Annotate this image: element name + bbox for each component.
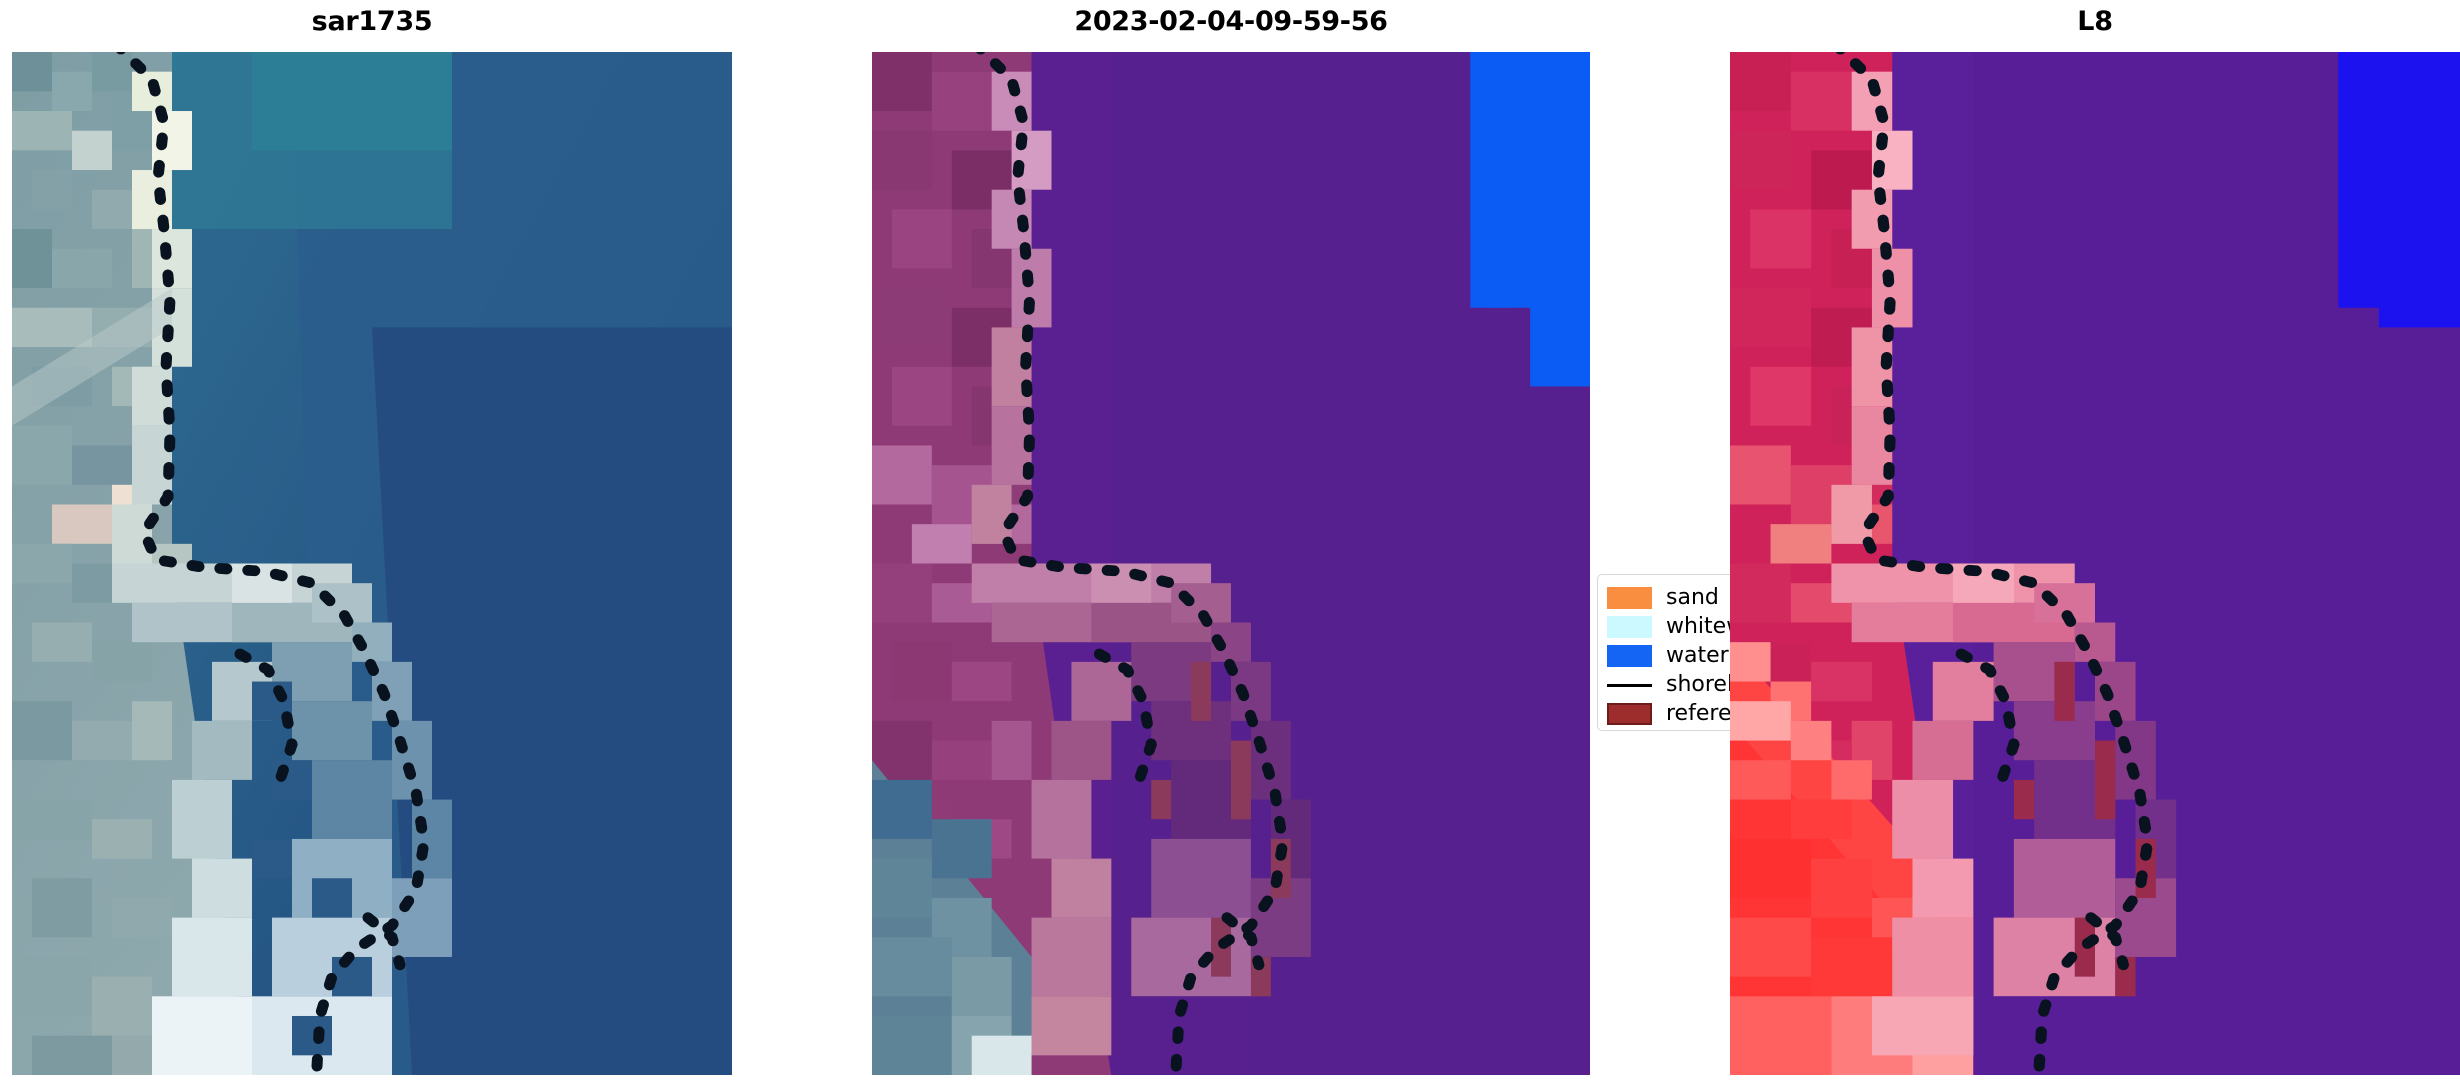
panel-sar-image[interactable]: [12, 52, 732, 1075]
legend-label-water: water: [1666, 645, 1729, 667]
panel-l8-image[interactable]: [1730, 52, 2460, 1075]
water-swatch-icon: [1607, 645, 1652, 667]
panel-title-classified: 2023-02-04-09-59-56: [872, 8, 1590, 35]
sand-swatch-icon: [1607, 587, 1652, 609]
panel-classified-image[interactable]: [872, 52, 1590, 1075]
l8-raster: [1730, 52, 2460, 1075]
reference-swatch-icon: [1607, 703, 1652, 725]
whitewater-swatch-icon: [1607, 616, 1652, 638]
sar-raster: [12, 52, 732, 1075]
panel-title-sar: sar1735: [12, 8, 732, 35]
shoreline-line-icon: [1607, 674, 1652, 696]
classified-raster: [872, 52, 1590, 1075]
panel-title-l8: L8: [1730, 8, 2460, 35]
figure-canvas: sar1735: [0, 0, 2460, 1091]
legend-label-sand: sand: [1666, 587, 1719, 609]
